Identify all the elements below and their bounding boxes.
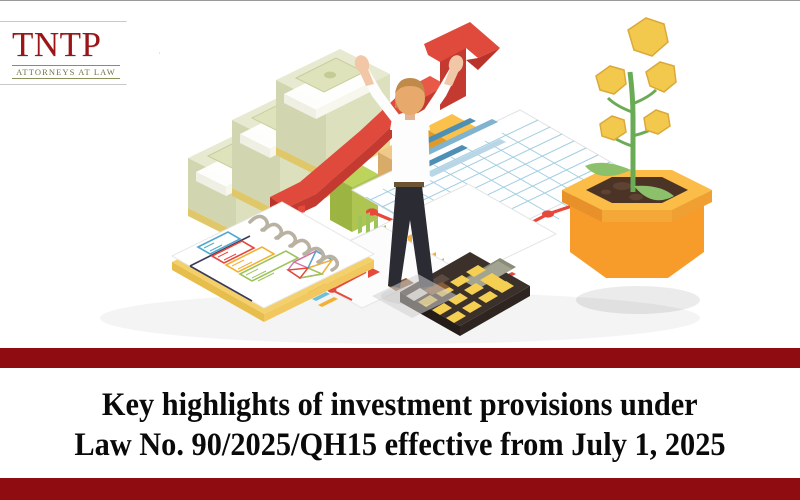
footer-band <box>0 478 800 500</box>
logo-tagline: ATTORNEYS AT LAW <box>12 65 120 79</box>
gold-coins <box>596 18 676 140</box>
logo-wordmark: TNTP <box>12 27 102 62</box>
title-line-1: Key highlights of investment provisions … <box>102 385 698 425</box>
page-title: Key highlights of investment provisions … <box>0 372 800 478</box>
banner: TNTP ATTORNEYS AT LAW Key highlights of … <box>0 0 800 500</box>
logo-plaque[interactable]: TNTP ATTORNEYS AT LAW <box>0 21 160 85</box>
title-line-2: Law No. 90/2025/QH15 effective from July… <box>74 425 725 465</box>
divider-band <box>0 348 800 368</box>
